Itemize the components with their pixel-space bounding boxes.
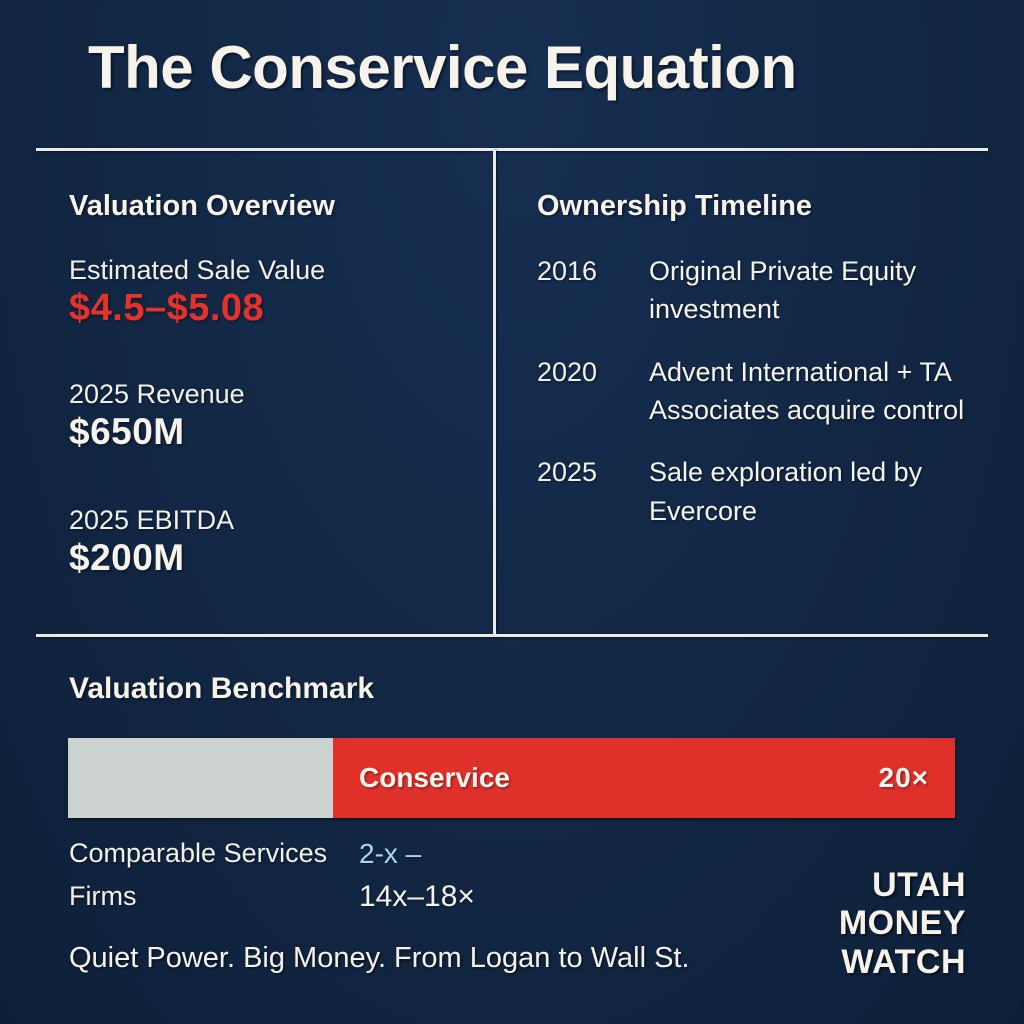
comparable-range-lower: 14x–18× xyxy=(359,875,589,919)
valuation-overview-heading: Valuation Overview xyxy=(69,190,335,223)
benchmark-bar-label: Conservice xyxy=(359,762,510,794)
logo-line-watch: WATCH xyxy=(839,943,966,981)
ownership-timeline-list: 2016 Original Private Equity investment … xyxy=(537,252,977,554)
ownership-timeline-heading: Ownership Timeline xyxy=(537,190,812,223)
benchmark-bar-segment-comparable xyxy=(68,738,333,818)
metric-value: $4.5–$5.08 xyxy=(69,286,325,331)
timeline-row: 2016 Original Private Equity investment xyxy=(537,252,977,329)
metric-value: $200M xyxy=(69,536,234,580)
tagline: Quiet Power. Big Money. From Logan to Wa… xyxy=(69,942,690,975)
timeline-year: 2016 xyxy=(537,252,649,290)
metric-2025-ebitda: 2025 EBITDA $200M xyxy=(69,505,234,580)
benchmark-bar-segment-conservice: Conservice 20× xyxy=(333,738,955,818)
metric-2025-revenue: 2025 Revenue $650M xyxy=(69,379,245,454)
divider-vertical xyxy=(493,150,496,635)
metric-label: 2025 EBITDA xyxy=(69,505,234,536)
divider-top xyxy=(36,148,988,151)
metric-label: Estimated Sale Value xyxy=(69,255,325,286)
valuation-benchmark-bar: Conservice 20× xyxy=(68,738,955,818)
comparable-legend-range: 2-x – 14x–18× xyxy=(359,832,589,919)
logo-line-money: MONEY xyxy=(839,904,966,942)
timeline-event: Advent International + TA Associates acq… xyxy=(649,353,977,430)
timeline-event: Original Private Equity investment xyxy=(649,252,977,329)
benchmark-bar-multiple: 20× xyxy=(879,762,930,794)
valuation-benchmark-heading: Valuation Benchmark xyxy=(69,672,374,706)
timeline-year: 2025 xyxy=(537,453,649,491)
metric-value: $650M xyxy=(69,410,245,454)
page-title: The Conservice Equation xyxy=(88,36,968,99)
infographic-canvas: The Conservice Equation Valuation Overvi… xyxy=(0,0,1024,1024)
timeline-row: 2020 Advent International + TA Associate… xyxy=(537,353,977,430)
metric-label: 2025 Revenue xyxy=(69,379,245,410)
timeline-year: 2020 xyxy=(537,353,649,391)
metric-estimated-sale-value: Estimated Sale Value $4.5–$5.08 xyxy=(69,255,325,331)
brand-logo: UTAH MONEY WATCH xyxy=(839,866,966,981)
comparable-range-upper: 2-x – xyxy=(359,832,589,875)
timeline-event: Sale exploration led by Evercore xyxy=(649,453,977,530)
divider-middle xyxy=(36,634,988,637)
comparable-legend-label: Comparable Services Firms xyxy=(69,832,339,918)
logo-line-utah: UTAH xyxy=(839,866,966,904)
timeline-row: 2025 Sale exploration led by Evercore xyxy=(537,453,977,530)
